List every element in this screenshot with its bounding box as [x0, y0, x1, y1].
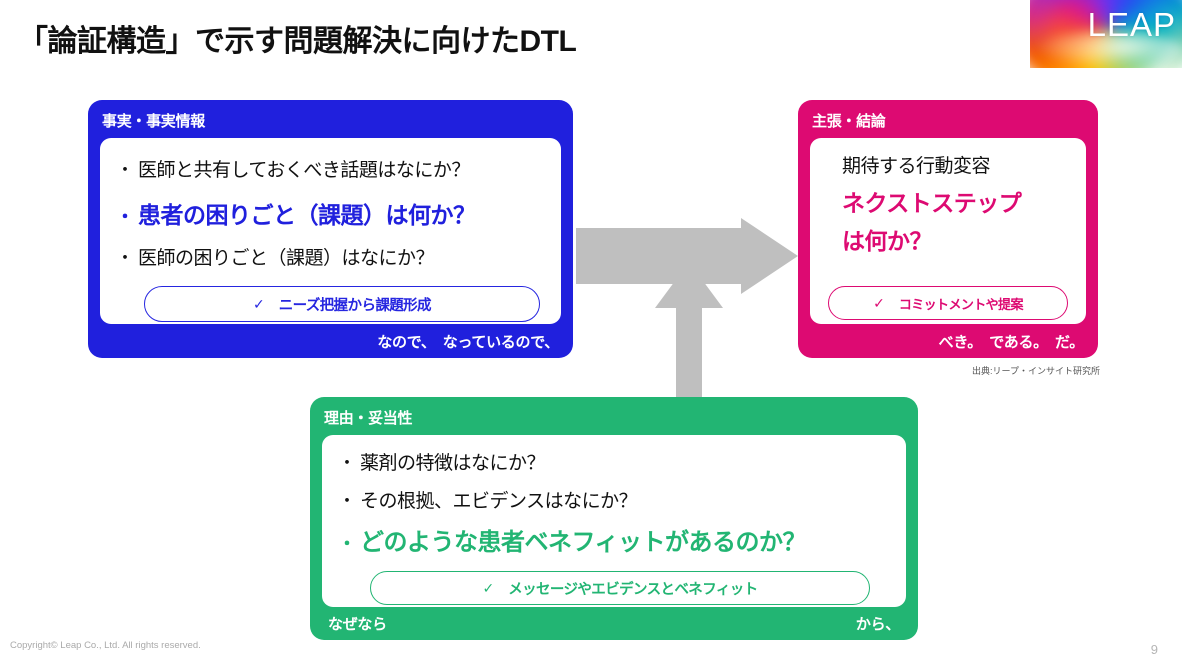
claim-line: 期待する行動変容	[842, 150, 1021, 184]
copyright-notice: Copyright© Leap Co., Ltd. All rights res…	[10, 640, 201, 651]
facts-bullet-list: ・ 医師と共有しておくべき話題はなにか？ ・ 患者の困りごと（課題）は何か？ ・…	[116, 152, 546, 282]
check-icon: ✓	[482, 581, 494, 595]
bullet-label: 医師の困りごと（課題）はなにか？	[138, 240, 434, 278]
bullet-marker-icon: ・	[338, 492, 360, 510]
list-item: ・ 医師と共有しておくべき話題はなにか？	[116, 152, 546, 190]
claim-line-highlighted: は何か？	[842, 222, 1021, 260]
reason-card-footer-left: なぜなら	[328, 613, 387, 634]
claim-card: 主張・結論 期待する行動変容 ネクストステップ は何か？ ✓ コミットメントや提…	[798, 100, 1098, 358]
list-item: ・ 薬剤の特徴はなにか？	[338, 445, 898, 483]
reason-card-header: 理由・妥当性	[324, 407, 412, 428]
bullet-marker-icon: ・	[338, 454, 360, 472]
reason-card-body: ・ 薬剤の特徴はなにか？ ・ その根拠、エビデンスはなにか？ ・ どのような患者…	[322, 435, 906, 607]
arrow-up-icon	[655, 262, 723, 399]
bullet-marker-icon: ・	[116, 161, 138, 179]
page-number: 9	[1151, 642, 1158, 657]
claim-pill-label: コミットメントや提案	[899, 294, 1023, 313]
slide-canvas: LEAP 「論証構造」で示す問題解決に向けたDTL 事実・事実情報 ・ 医師と共…	[0, 0, 1182, 665]
reason-pill-badge: ✓ メッセージやエビデンスとベネフィット	[370, 571, 870, 605]
bullet-label-highlighted: 患者の困りごと（課題）は何か？	[138, 194, 476, 236]
bullet-label-highlighted: どのような患者ベネフィットがあるのか？	[360, 521, 806, 565]
reason-card-footer-right: から、	[856, 613, 900, 634]
logo-wordmark: LEAP	[1030, 6, 1176, 44]
bullet-marker-icon: ・	[116, 249, 138, 267]
claim-card-body: 期待する行動変容 ネクストステップ は何か？ ✓ コミットメントや提案	[810, 138, 1086, 324]
reason-card: 理由・妥当性 ・ 薬剤の特徴はなにか？ ・ その根拠、エビデンスはなにか？ ・ …	[310, 397, 918, 640]
bullet-marker-icon: ・	[116, 208, 138, 226]
reason-pill-label: メッセージやエビデンスとベネフィット	[508, 578, 757, 599]
source-note: 出典:リープ・インサイト研究所	[972, 364, 1100, 377]
bullet-marker-icon: ・	[338, 535, 360, 553]
claim-pill-badge: ✓ コミットメントや提案	[828, 286, 1068, 320]
facts-pill-label: ニーズ把握から課題形成	[279, 294, 431, 315]
list-item: ・ 患者の困りごと（課題）は何か？	[116, 194, 546, 236]
leap-logo: LEAP	[1030, 0, 1182, 68]
reason-bullet-list: ・ 薬剤の特徴はなにか？ ・ その根拠、エビデンスはなにか？ ・ どのような患者…	[338, 445, 898, 565]
bullet-label: その根拠、エビデンスはなにか？	[360, 483, 637, 521]
list-item: ・ 医師の困りごと（課題）はなにか？	[116, 240, 546, 278]
claim-text-block: 期待する行動変容 ネクストステップ は何か？	[842, 150, 1021, 260]
facts-card: 事実・事実情報 ・ 医師と共有しておくべき話題はなにか？ ・ 患者の困りごと（課…	[88, 100, 573, 358]
claim-card-footer: べき。 である。 だ。	[939, 331, 1084, 352]
facts-pill-badge: ✓ ニーズ把握から課題形成	[144, 286, 540, 322]
list-item: ・ その根拠、エビデンスはなにか？	[338, 483, 898, 521]
facts-card-body: ・ 医師と共有しておくべき話題はなにか？ ・ 患者の困りごと（課題）は何か？ ・…	[100, 138, 561, 324]
facts-card-footer: なので、 なっているので、	[377, 331, 559, 352]
claim-card-header: 主張・結論	[812, 110, 886, 131]
page-title: 「論証構造」で示す問題解決に向けたDTL	[18, 16, 576, 60]
bullet-label: 医師と共有しておくべき話題はなにか？	[138, 152, 470, 190]
facts-card-header: 事実・事実情報	[102, 110, 205, 131]
claim-line-highlighted: ネクストステップ	[842, 184, 1021, 222]
check-icon: ✓	[873, 296, 885, 310]
bullet-label: 薬剤の特徴はなにか？	[360, 445, 545, 483]
check-icon: ✓	[253, 297, 265, 311]
list-item: ・ どのような患者ベネフィットがあるのか？	[338, 521, 898, 565]
